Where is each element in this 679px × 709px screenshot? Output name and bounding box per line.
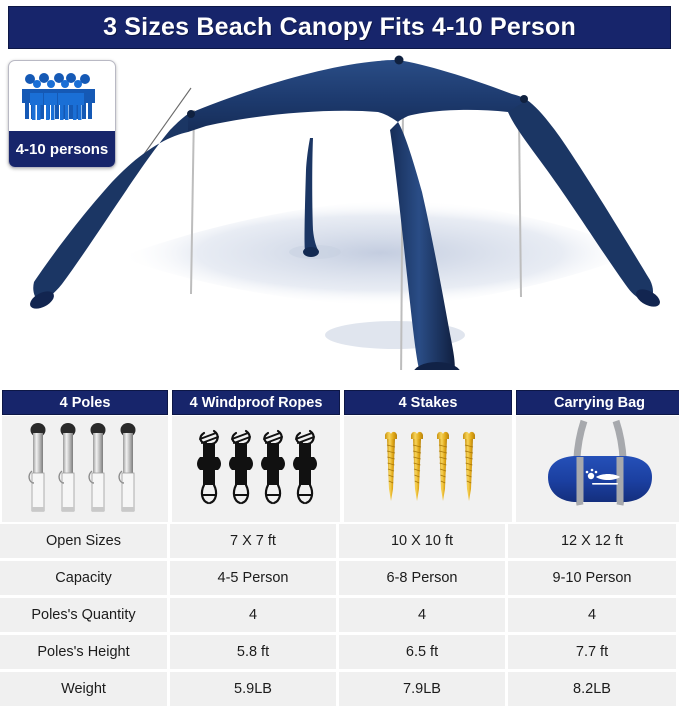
- row-label-capacity: Capacity: [0, 561, 170, 595]
- cell-weight-small: 5.9LB: [170, 672, 339, 706]
- cell-open-sizes-small: 7 X 7 ft: [170, 524, 339, 558]
- cell-capacity-large: 9-10 Person: [508, 561, 676, 595]
- table-row: Capacity 4-5 Person 6-8 Person 9-10 Pers…: [0, 561, 679, 598]
- capacity-badge: 4-10 persons: [8, 60, 116, 168]
- capacity-badge-label: 4-10 persons: [9, 131, 115, 167]
- ground-shadow: [120, 200, 640, 349]
- row-label-poles-height: Poles's Height: [0, 635, 170, 669]
- group-of-people-icon: [19, 71, 105, 123]
- accessory-image-bag: [516, 416, 679, 522]
- cell-capacity-small: 4-5 Person: [170, 561, 339, 595]
- screw-stakes-icon: [373, 425, 483, 513]
- table-row: Open Sizes 7 X 7 ft 10 X 10 ft 12 X 12 f…: [0, 524, 679, 561]
- carrying-bag-icon: [534, 419, 666, 519]
- row-label-open-sizes: Open Sizes: [0, 524, 170, 558]
- product-infographic: 3 Sizes Beach Canopy Fits 4-10 Person: [0, 0, 679, 699]
- coiled-ropes-icon: [186, 423, 326, 515]
- accessory-header-poles: 4 Poles: [2, 390, 168, 415]
- cell-poles-height-medium: 6.5 ft: [339, 635, 508, 669]
- row-label-poles-quantity: Poles's Quantity: [0, 598, 170, 632]
- cell-poles-quantity-small: 4: [170, 598, 339, 632]
- cell-poles-quantity-large: 4: [508, 598, 676, 632]
- accessory-image-ropes: [172, 416, 340, 522]
- table-row: Poles's Quantity 4 4 4: [0, 598, 679, 635]
- accessory-header-row: 4 Poles 4 Windproof Ropes 4 Stakes Carry…: [0, 390, 679, 415]
- accessory-header-ropes: 4 Windproof Ropes: [172, 390, 340, 415]
- cell-open-sizes-large: 12 X 12 ft: [508, 524, 676, 558]
- accessory-header-stakes: 4 Stakes: [344, 390, 512, 415]
- cell-poles-height-large: 7.7 ft: [508, 635, 676, 669]
- page-title-bar: 3 Sizes Beach Canopy Fits 4-10 Person: [8, 6, 671, 49]
- table-row: Weight 5.9LB 7.9LB 8.2LB: [0, 672, 679, 709]
- accessory-image-row: [0, 416, 679, 522]
- hero-product-section: 4-10 persons: [0, 52, 679, 370]
- row-label-weight: Weight: [0, 672, 170, 706]
- page-title: 3 Sizes Beach Canopy Fits 4-10 Person: [103, 13, 576, 42]
- cell-weight-medium: 7.9LB: [339, 672, 508, 706]
- cell-capacity-medium: 6-8 Person: [339, 561, 508, 595]
- cell-weight-large: 8.2LB: [508, 672, 676, 706]
- cell-open-sizes-medium: 10 X 10 ft: [339, 524, 508, 558]
- specification-table: Open Sizes 7 X 7 ft 10 X 10 ft 12 X 12 f…: [0, 524, 679, 709]
- people-group-icon: [9, 61, 115, 133]
- accessory-image-stakes: [344, 416, 512, 522]
- cell-poles-quantity-medium: 4: [339, 598, 508, 632]
- telescoping-poles-icon: [15, 421, 155, 517]
- cell-poles-height-small: 5.8 ft: [170, 635, 339, 669]
- table-row: Poles's Height 5.8 ft 6.5 ft 7.7 ft: [0, 635, 679, 672]
- accessory-header-bag: Carrying Bag: [516, 390, 679, 415]
- accessory-image-poles: [2, 416, 168, 522]
